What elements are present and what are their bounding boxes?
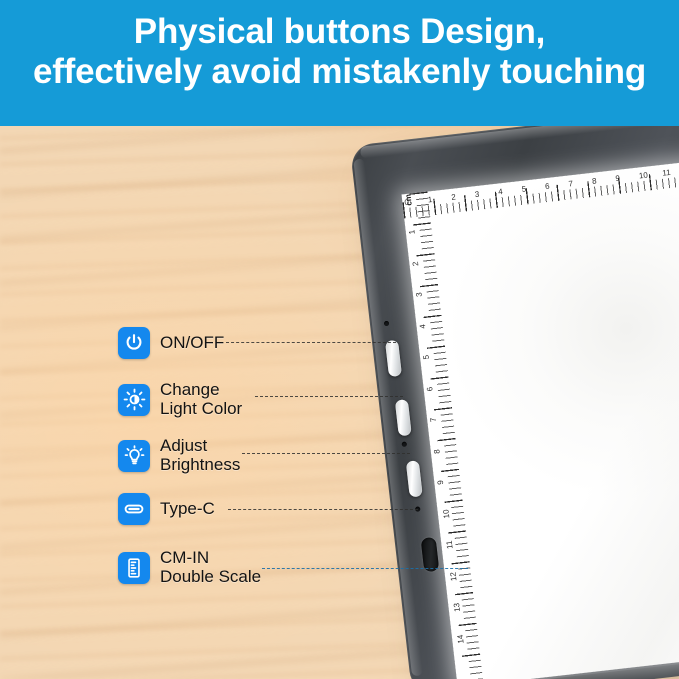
lightbulb-icon (118, 440, 150, 472)
leader-line-light-color (255, 396, 403, 397)
callout-label: Adjust Brightness (160, 437, 240, 474)
power-icon (118, 327, 150, 359)
callout-label: ON/OFF (160, 334, 224, 353)
callout-list: ON/OFF Change Light Color (0, 0, 679, 679)
callout-label: CM-IN Double Scale (160, 549, 261, 586)
callout-brightness[interactable]: Adjust Brightness (118, 437, 240, 474)
usb-type-c-icon (118, 493, 150, 525)
callout-type-c[interactable]: Type-C (118, 493, 215, 525)
leader-line-brightness (242, 453, 410, 454)
ruler-icon (118, 552, 150, 584)
leader-line-cm-in (262, 568, 468, 569)
sun-contrast-icon (118, 384, 150, 416)
callout-label: Change Light Color (160, 381, 242, 418)
callout-light-color[interactable]: Change Light Color (118, 381, 242, 418)
callout-label: Type-C (160, 500, 215, 519)
product-feature-image: cm 0123456789101112131415123456789101112… (0, 0, 679, 679)
callout-onoff[interactable]: ON/OFF (118, 327, 224, 359)
leader-line-onoff (226, 342, 396, 343)
leader-line-type-c (228, 509, 418, 510)
callout-cm-in[interactable]: CM-IN Double Scale (118, 549, 261, 586)
